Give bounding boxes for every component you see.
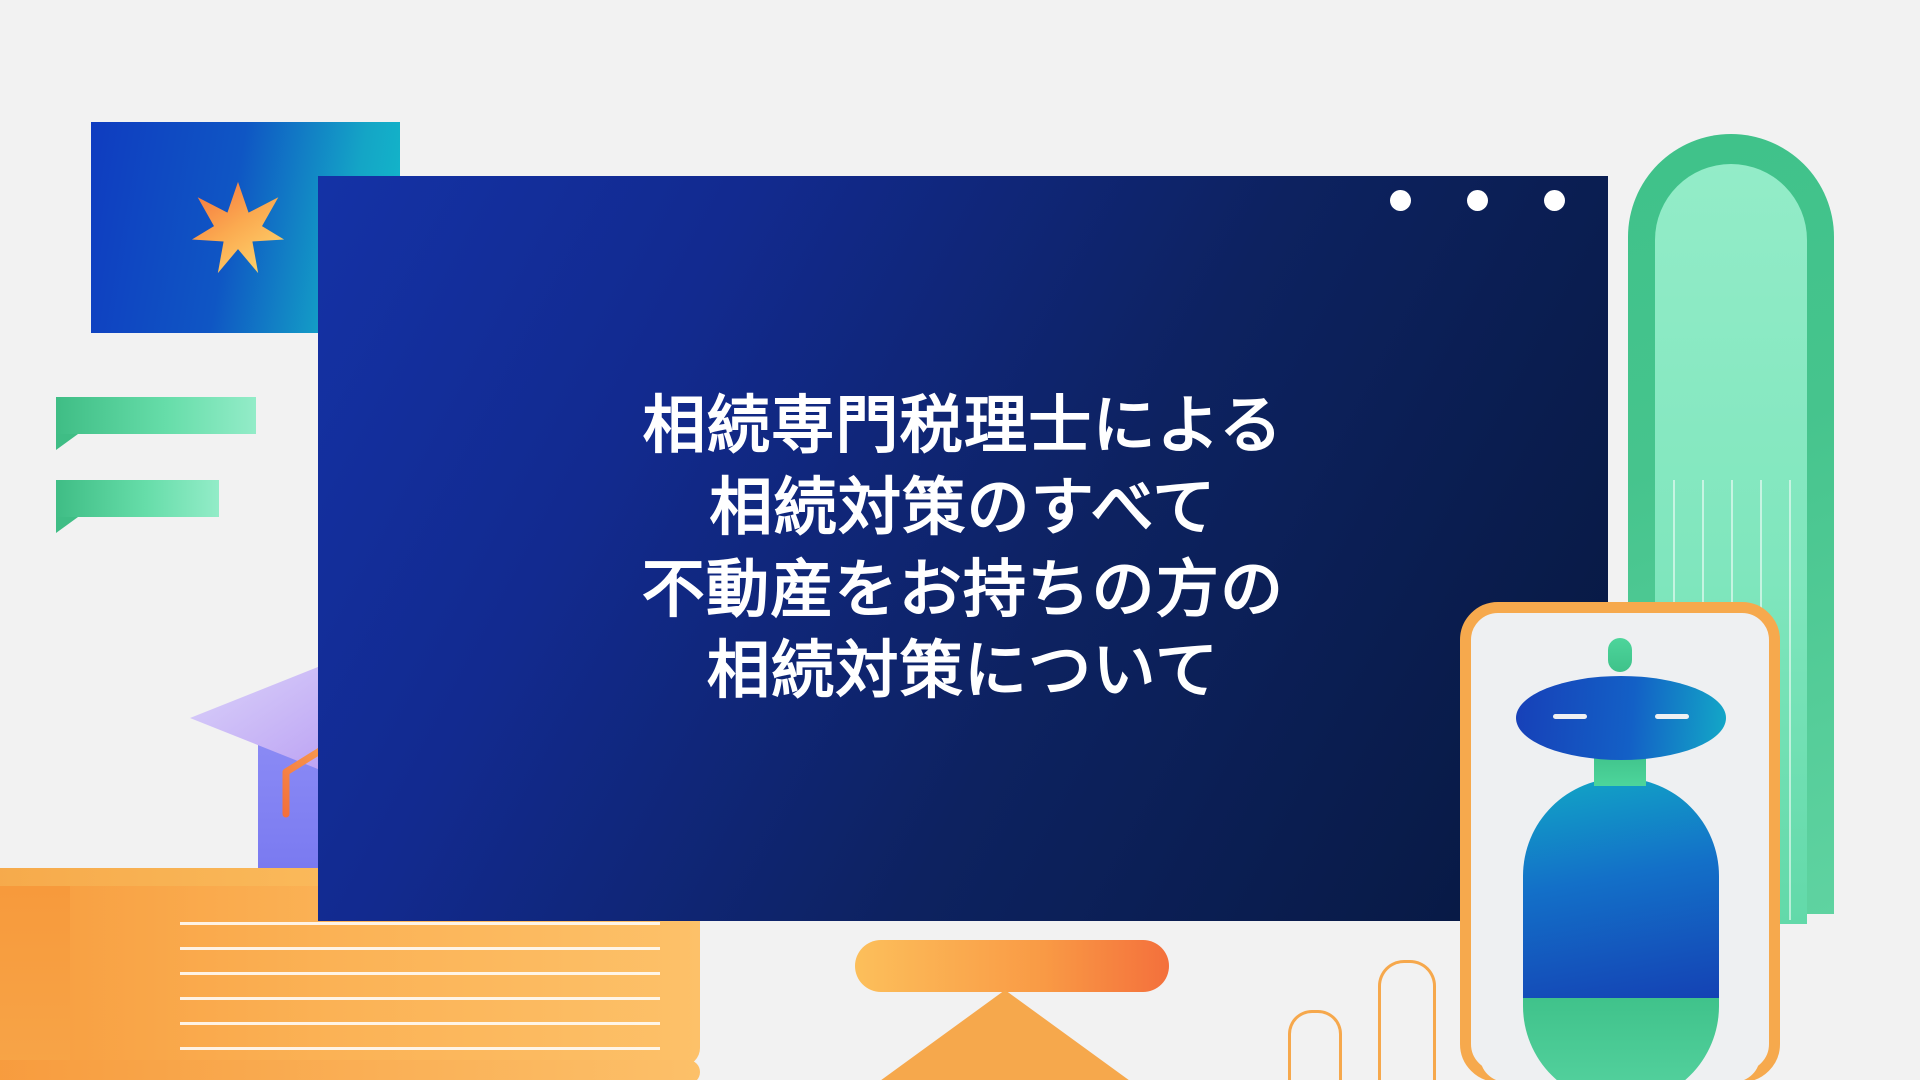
robot-body bbox=[1523, 778, 1719, 998]
orange-pill bbox=[855, 940, 1169, 992]
book-page-line bbox=[180, 972, 660, 975]
window-dot-2[interactable] bbox=[1467, 190, 1488, 211]
book-page-line bbox=[180, 997, 660, 1000]
star-icon bbox=[190, 180, 286, 276]
book-page-line bbox=[180, 1022, 660, 1025]
book-page-line bbox=[180, 947, 660, 950]
book-page-line bbox=[180, 922, 660, 925]
robot-eye-left bbox=[1553, 714, 1587, 719]
window-dot-1[interactable] bbox=[1390, 190, 1411, 211]
arch-line bbox=[1789, 480, 1791, 920]
robot-eye-right bbox=[1655, 714, 1689, 719]
book-bottom-edge bbox=[0, 1060, 700, 1080]
paperclip-arc-2 bbox=[1288, 1010, 1342, 1080]
robot-head bbox=[1516, 676, 1726, 760]
window-dot-3[interactable] bbox=[1544, 190, 1565, 211]
green-bar-1 bbox=[56, 397, 256, 434]
browser-window bbox=[318, 176, 1608, 921]
robot-base bbox=[1523, 994, 1719, 1080]
slide-canvas: 相続専門税理士による 相続対策のすべて 不動産をお持ちの方の 相続対策について bbox=[0, 0, 1920, 1080]
paperclip-arc-1 bbox=[1378, 960, 1436, 1080]
green-bar-2 bbox=[56, 480, 219, 517]
book-page-lines bbox=[180, 922, 680, 1072]
robot-antenna bbox=[1608, 638, 1632, 672]
book-page-line bbox=[180, 1047, 660, 1050]
book-cover bbox=[0, 886, 70, 1066]
orange-triangle bbox=[840, 990, 1170, 1080]
browser-title-bar bbox=[402, 176, 1608, 222]
